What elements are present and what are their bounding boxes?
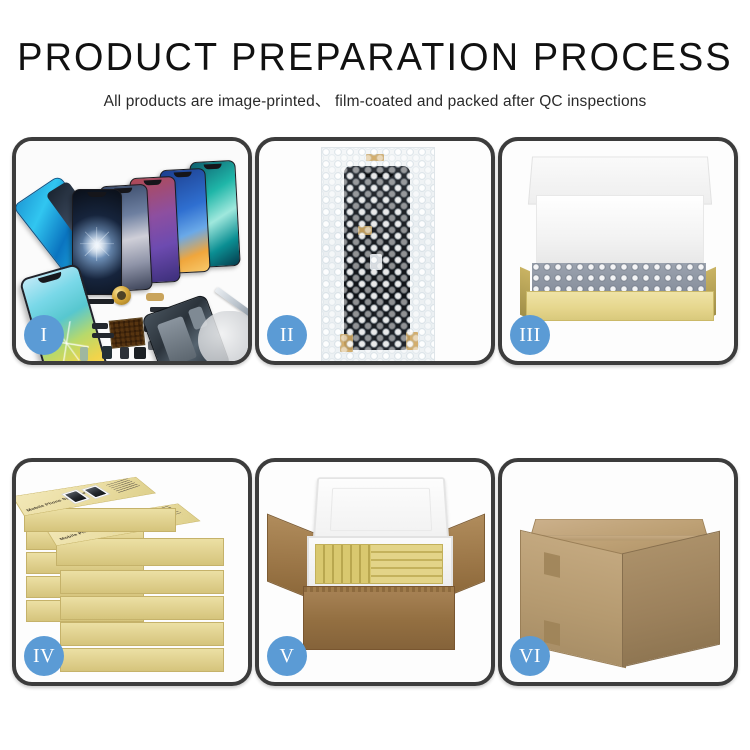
carton-tape-upper [544, 552, 560, 578]
small-part-gold [146, 293, 164, 301]
process-step-panel-5[interactable]: V [255, 458, 495, 686]
bubble-texture-overlay [322, 148, 434, 361]
stacked-box-f3 [60, 596, 224, 620]
carton-front-panel [303, 586, 455, 650]
foam-lid [313, 477, 450, 543]
stacked-box-f1 [60, 648, 224, 672]
foam-sheet [536, 195, 704, 269]
step-badge-2: II [267, 315, 307, 355]
speaker-coil-part [112, 286, 131, 305]
step-badge-6: VI [510, 636, 550, 676]
process-step-grid: I II [12, 137, 738, 686]
technician-hand [198, 311, 248, 361]
process-step-panel-4[interactable]: Mobile Phone Spare Parts Mobile Phone Sp… [12, 458, 252, 686]
process-step-panel-6[interactable]: VI [498, 458, 738, 686]
chip-grid-part [109, 317, 146, 348]
process-step-panel-2[interactable]: II [255, 137, 495, 365]
step-badge-3: III [510, 315, 550, 355]
stacked-box-labeled-2 [56, 538, 224, 566]
step-badge-5: V [267, 636, 307, 676]
box-front-panel [526, 291, 714, 321]
carton-tape-lower [544, 620, 560, 646]
bubble-wrap-bag [321, 147, 435, 361]
page-subtitle: All products are image-printed、 film-coa… [0, 89, 750, 111]
process-step-panel-1[interactable]: I [12, 137, 252, 365]
step-badge-4: IV [24, 636, 64, 676]
small-part-camera [134, 347, 146, 359]
packed-boxes-contents [315, 544, 443, 584]
small-part-button [120, 347, 129, 359]
carton-right-face [622, 531, 720, 668]
stacked-box-f2 [60, 622, 224, 646]
process-step-panel-3[interactable]: III [498, 137, 738, 365]
step-badge-1: I [24, 315, 64, 355]
page-title: PRODUCT PREPARATION PROCESS [11, 36, 739, 80]
flex-cable-1 [92, 323, 108, 329]
small-part-strip [88, 299, 114, 304]
small-part-battery [80, 347, 88, 361]
stacked-box-f4 [60, 570, 224, 594]
flex-cable-2 [92, 333, 114, 338]
box-spec-lines-1 [106, 478, 141, 493]
page-header: PRODUCT PREPARATION PROCESS All products… [0, 0, 750, 111]
small-part-connector [102, 346, 112, 359]
